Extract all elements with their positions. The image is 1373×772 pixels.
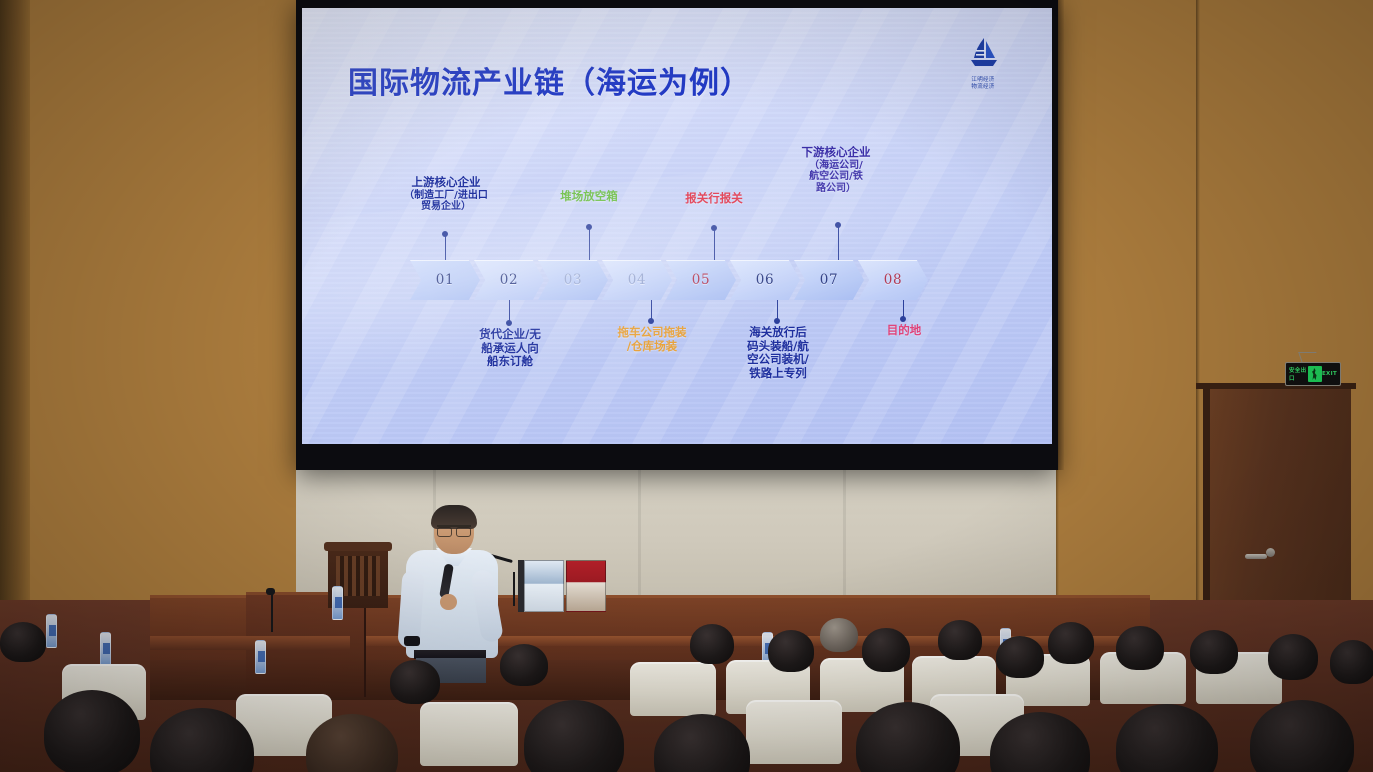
- chevron-number: 03: [564, 272, 582, 288]
- book-display: [524, 560, 606, 612]
- callout-title: 下游核心企业: [778, 146, 894, 160]
- audience-head: [44, 690, 140, 772]
- callout-step-08: 目的地: [858, 324, 950, 338]
- book-red: [566, 560, 606, 612]
- book-spine: [518, 560, 524, 612]
- callout-title: 报关行报关: [662, 192, 766, 206]
- book-blue: [524, 560, 564, 612]
- connector-dot: [648, 318, 654, 324]
- running-person-icon: [1308, 366, 1322, 382]
- process-chevron-chain: 01 02 03 04 05 06 07 08: [410, 260, 922, 300]
- audience-head: [938, 620, 982, 660]
- audience-head: [1330, 640, 1373, 684]
- wall-seam: [1196, 0, 1200, 640]
- connector-line: [838, 225, 840, 260]
- audience-head: [820, 618, 858, 652]
- chevron-step-01[interactable]: 01: [410, 260, 480, 300]
- connector-line: [445, 234, 447, 260]
- callout-step-02: 货代企业/无 船承运人向 船东订舱: [460, 328, 560, 369]
- sailboat-icon: [964, 36, 1002, 70]
- glasses-icon: [437, 525, 471, 533]
- emergency-exit-sign: 安全出口 EXIT: [1285, 362, 1341, 386]
- presenter-hand: [440, 594, 457, 610]
- projection-screen-frame: 国际物流产业链（海运为例） 江明经济 物流经济 上游核心企业 （制造工厂/进出口…: [296, 0, 1058, 470]
- logo-caption-1: 江明经济: [971, 77, 994, 83]
- microphone-head-icon: [266, 588, 275, 595]
- callout-detail: （海运公司/ 航空公司/铁 路公司）: [778, 160, 894, 195]
- microphone-stand: [271, 592, 273, 632]
- callout-step-07: 下游核心企业 （海运公司/ 航空公司/铁 路公司）: [778, 146, 894, 195]
- chevron-step-04[interactable]: 04: [602, 260, 672, 300]
- water-bottle: [332, 586, 343, 620]
- presentation-clicker: [404, 636, 420, 646]
- presenter: [398, 508, 498, 673]
- callout-step-04: 拖车公司拖装 /仓库场装: [598, 326, 706, 353]
- chevron-number: 05: [692, 272, 710, 288]
- slide-title: 国际物流产业链（海运为例）: [348, 58, 751, 102]
- logo-caption-2: 物流经济: [971, 84, 994, 90]
- callout-detail: 货代企业/无 船承运人向 船东订舱: [460, 328, 560, 369]
- connector-dot: [900, 316, 906, 322]
- chevron-number: 01: [436, 272, 454, 288]
- lecture-hall-photo: 安全出口 EXIT 国际物流产业链（海运为例） 江明经济 物流经济: [0, 0, 1373, 772]
- seat: [420, 702, 518, 766]
- audience-head: [1268, 634, 1318, 680]
- chevron-step-03[interactable]: 03: [538, 260, 608, 300]
- chevron-step-02[interactable]: 02: [474, 260, 544, 300]
- chevron-number: 02: [500, 272, 518, 288]
- callout-title: 上游核心企业: [390, 176, 502, 190]
- water-bottle: [100, 632, 111, 666]
- microphone-stand: [513, 572, 515, 606]
- callout-detail: 拖车公司拖装 /仓库场装: [598, 326, 706, 353]
- chevron-number: 04: [628, 272, 646, 288]
- audience-head: [1116, 626, 1164, 670]
- callout-title: 目的地: [858, 324, 950, 338]
- chevron-step-07[interactable]: 07: [794, 260, 864, 300]
- podium-ledge: [150, 636, 350, 650]
- door-lock: [1266, 548, 1275, 557]
- chevron-number: 08: [884, 272, 902, 288]
- callout-detail: （制造工厂/进出口 贸易企业）: [390, 190, 502, 214]
- audience-head: [1048, 622, 1094, 664]
- chevron-step-08[interactable]: 08: [858, 260, 928, 300]
- seat: [746, 700, 842, 764]
- callout-detail: 海关放行后 码头装船/航 空公司装机/ 铁路上专列: [726, 326, 830, 380]
- connector-dot: [774, 318, 780, 324]
- connector-dot: [506, 320, 512, 326]
- connector-line: [714, 228, 716, 260]
- organization-logo: 江明经济 物流经济: [956, 36, 1010, 92]
- callout-title: 堆场放空箱: [534, 190, 644, 204]
- chevron-step-05[interactable]: 05: [666, 260, 736, 300]
- callout-step-01: 上游核心企业 （制造工厂/进出口 贸易企业）: [390, 176, 502, 213]
- exit-sign-label-cn: 安全出口: [1289, 366, 1308, 382]
- chevron-step-06[interactable]: 06: [730, 260, 800, 300]
- chevron-number: 06: [756, 272, 774, 288]
- audience-head: [768, 630, 814, 672]
- callout-step-03: 堆场放空箱: [534, 190, 644, 204]
- exit-sign-label-en: EXIT: [1322, 371, 1337, 377]
- audience-head: [390, 660, 440, 704]
- chevron-number: 07: [820, 272, 838, 288]
- audience-head: [690, 624, 734, 664]
- connector-line: [589, 227, 591, 260]
- seat: [630, 662, 716, 716]
- wall-left-edge: [0, 0, 30, 640]
- audience-head: [1190, 630, 1238, 674]
- water-bottle: [46, 614, 57, 648]
- audience-head: [996, 636, 1044, 678]
- water-bottle: [255, 640, 266, 674]
- door-handle[interactable]: [1245, 554, 1267, 559]
- audience-head: [500, 644, 548, 686]
- presentation-slide: 国际物流产业链（海运为例） 江明经济 物流经济 上游核心企业 （制造工厂/进出口…: [302, 8, 1052, 444]
- callout-step-06: 海关放行后 码头装船/航 空公司装机/ 铁路上专列: [726, 326, 830, 380]
- audience-head: [0, 622, 46, 662]
- audience-head: [862, 628, 910, 672]
- callout-step-05: 报关行报关: [662, 192, 766, 206]
